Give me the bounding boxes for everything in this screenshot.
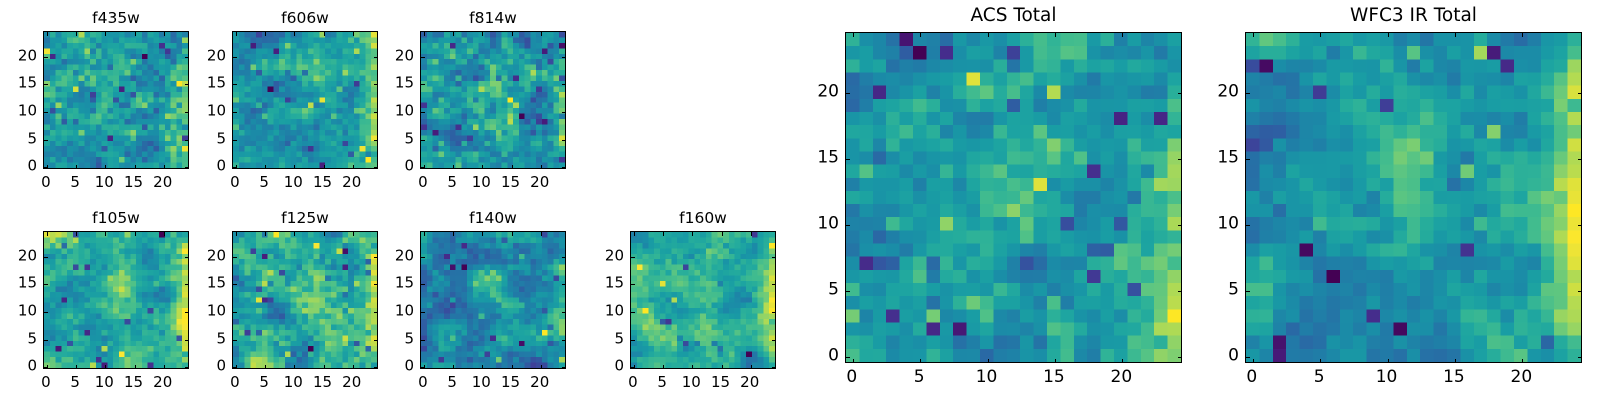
x-tick-mark — [265, 365, 266, 369]
x-tick-mark-top — [236, 32, 237, 36]
y-tick-mark — [846, 357, 850, 358]
heatmap-image — [1246, 33, 1581, 362]
y-tick-mark — [233, 340, 237, 341]
y-tick-mark — [44, 367, 48, 368]
y-tick-mark-right — [562, 257, 566, 258]
y-tick-mark — [421, 112, 425, 113]
x-tick-label: 0 — [41, 175, 51, 190]
x-tick-label: 0 — [418, 375, 428, 390]
y-tick-mark — [631, 340, 635, 341]
x-tick-mark-top — [1055, 33, 1056, 37]
x-tick-label: 15 — [124, 175, 143, 190]
panel-title: f606w — [232, 11, 378, 27]
y-tick-label: 20 — [799, 83, 839, 100]
y-tick-label: 5 — [584, 331, 624, 346]
x-tick-mark-top — [482, 32, 483, 36]
y-tick-mark — [631, 367, 635, 368]
y-tick-mark — [1246, 291, 1250, 292]
x-tick-mark-top — [453, 232, 454, 236]
y-tick-label: 5 — [0, 131, 37, 146]
y-tick-mark — [421, 284, 425, 285]
y-tick-mark — [44, 284, 48, 285]
plot-area — [420, 231, 566, 369]
x-tick-mark-top — [236, 232, 237, 236]
y-tick-label: 15 — [186, 276, 226, 291]
x-tick-label: 0 — [230, 175, 240, 190]
y-tick-label: 10 — [186, 104, 226, 119]
y-tick-label: 20 — [1199, 83, 1239, 100]
y-tick-label: 15 — [584, 276, 624, 291]
x-tick-mark — [482, 165, 483, 169]
x-tick-mark — [663, 365, 664, 369]
x-tick-mark-top — [135, 32, 136, 36]
y-tick-label: 20 — [0, 48, 37, 63]
x-tick-label: 10 — [1376, 369, 1398, 386]
y-tick-mark — [233, 112, 237, 113]
y-tick-mark-right — [772, 284, 776, 285]
panel-title: f160w — [630, 211, 776, 227]
y-tick-mark — [44, 312, 48, 313]
y-tick-mark — [1246, 225, 1250, 226]
x-tick-label: 5 — [914, 369, 925, 386]
x-tick-mark-top — [541, 32, 542, 36]
y-tick-mark-right — [562, 284, 566, 285]
y-tick-mark-right — [772, 367, 776, 368]
x-tick-label: 15 — [1043, 369, 1065, 386]
x-tick-mark — [512, 165, 513, 169]
x-tick-mark-top — [135, 232, 136, 236]
y-tick-mark — [1246, 357, 1250, 358]
y-tick-mark — [233, 284, 237, 285]
x-tick-mark — [164, 165, 165, 169]
x-tick-label: 10 — [284, 375, 303, 390]
x-tick-label: 20 — [530, 175, 549, 190]
x-tick-label: 10 — [976, 369, 998, 386]
panel-title: f125w — [232, 211, 378, 227]
y-tick-mark-right — [1178, 291, 1182, 292]
y-tick-mark — [846, 225, 850, 226]
x-tick-label: 15 — [711, 375, 730, 390]
x-tick-mark-top — [920, 33, 921, 37]
y-tick-mark-right — [562, 112, 566, 113]
x-tick-mark-top — [634, 232, 635, 236]
x-tick-label: 15 — [501, 375, 520, 390]
y-tick-mark-right — [562, 84, 566, 85]
y-tick-label: 5 — [799, 282, 839, 299]
x-tick-mark — [294, 165, 295, 169]
x-tick-label: 20 — [342, 375, 361, 390]
x-tick-mark-top — [482, 232, 483, 236]
x-tick-mark — [265, 165, 266, 169]
x-tick-mark-top — [76, 32, 77, 36]
x-tick-label: 0 — [41, 375, 51, 390]
y-tick-mark — [421, 367, 425, 368]
x-tick-mark — [541, 165, 542, 169]
plot-area — [1245, 32, 1582, 363]
plot-area — [630, 231, 776, 369]
y-tick-mark-right — [772, 340, 776, 341]
x-tick-label: 15 — [501, 175, 520, 190]
x-tick-mark — [324, 165, 325, 169]
y-tick-label: 10 — [374, 104, 414, 119]
x-tick-mark — [164, 365, 165, 369]
y-tick-mark — [421, 167, 425, 168]
y-tick-mark — [421, 340, 425, 341]
x-tick-mark — [1388, 359, 1389, 363]
y-tick-mark-right — [1578, 225, 1582, 226]
y-tick-mark — [1246, 93, 1250, 94]
x-tick-mark-top — [1253, 33, 1254, 37]
y-tick-label: 5 — [374, 131, 414, 146]
x-tick-label: 20 — [1511, 369, 1533, 386]
y-tick-label: 0 — [1199, 348, 1239, 365]
x-tick-mark — [76, 165, 77, 169]
heatmap-image — [421, 232, 565, 368]
heatmap-panel-f160w: f160w0510152005101520 — [630, 231, 776, 369]
y-tick-mark-right — [772, 257, 776, 258]
x-tick-mark-top — [164, 32, 165, 36]
heatmap-panel-f606w: f606w0510152005101520 — [232, 31, 378, 169]
y-tick-label: 0 — [374, 359, 414, 374]
x-tick-label: 15 — [313, 175, 332, 190]
x-tick-mark-top — [751, 232, 752, 236]
x-tick-mark-top — [353, 232, 354, 236]
heatmap-panel-f435w: f435w0510152005101520 — [43, 31, 189, 169]
x-tick-label: 20 — [740, 375, 759, 390]
x-tick-mark — [1253, 359, 1254, 363]
x-tick-mark — [541, 365, 542, 369]
y-tick-mark — [421, 84, 425, 85]
y-tick-mark-right — [562, 312, 566, 313]
x-tick-mark-top — [663, 232, 664, 236]
x-tick-mark-top — [512, 32, 513, 36]
y-tick-mark — [631, 284, 635, 285]
panel-title: f814w — [420, 11, 566, 27]
y-tick-label: 20 — [186, 48, 226, 63]
y-tick-label: 20 — [0, 248, 37, 263]
plot-area — [232, 31, 378, 169]
y-tick-label: 5 — [186, 131, 226, 146]
y-tick-label: 15 — [374, 276, 414, 291]
y-tick-mark — [44, 112, 48, 113]
y-tick-label: 5 — [186, 331, 226, 346]
y-tick-mark — [1246, 159, 1250, 160]
x-tick-label: 10 — [284, 175, 303, 190]
y-tick-mark-right — [1178, 225, 1182, 226]
y-tick-mark-right — [562, 57, 566, 58]
y-tick-mark — [421, 140, 425, 141]
x-tick-mark-top — [1320, 33, 1321, 37]
x-tick-label: 5 — [259, 175, 269, 190]
x-tick-mark-top — [424, 232, 425, 236]
x-tick-mark — [1055, 359, 1056, 363]
y-tick-label: 10 — [584, 304, 624, 319]
x-tick-mark — [1320, 359, 1321, 363]
x-tick-mark-top — [47, 232, 48, 236]
x-tick-mark-top — [76, 232, 77, 236]
y-tick-mark-right — [1178, 93, 1182, 94]
x-tick-mark-top — [164, 232, 165, 236]
x-tick-label: 20 — [1111, 369, 1133, 386]
x-tick-mark-top — [541, 232, 542, 236]
y-tick-label: 20 — [374, 48, 414, 63]
x-tick-mark — [1522, 359, 1523, 363]
x-tick-label: 5 — [447, 175, 457, 190]
y-tick-mark — [233, 84, 237, 85]
heatmap-panel-f125w: f125w0510152005101520 — [232, 231, 378, 369]
y-tick-mark-right — [562, 367, 566, 368]
x-tick-mark — [324, 365, 325, 369]
plot-area — [845, 32, 1182, 363]
x-tick-label: 5 — [447, 375, 457, 390]
y-tick-mark — [846, 93, 850, 94]
y-tick-label: 20 — [186, 248, 226, 263]
x-tick-label: 10 — [472, 175, 491, 190]
x-tick-mark — [453, 165, 454, 169]
x-tick-mark — [353, 165, 354, 169]
heatmap-panel-wfc3-ir-total: WFC3 IR Total0510152005101520 — [1245, 32, 1582, 363]
plot-area — [43, 31, 189, 169]
y-tick-mark — [233, 167, 237, 168]
y-tick-label: 0 — [584, 359, 624, 374]
heatmap-image — [233, 32, 377, 168]
y-tick-mark — [44, 84, 48, 85]
x-tick-mark-top — [294, 32, 295, 36]
x-tick-mark — [453, 365, 454, 369]
x-tick-label: 20 — [153, 375, 172, 390]
x-tick-mark-top — [424, 32, 425, 36]
y-tick-mark — [44, 57, 48, 58]
x-tick-mark-top — [453, 32, 454, 36]
y-tick-label: 10 — [186, 304, 226, 319]
y-tick-label: 10 — [374, 304, 414, 319]
x-tick-mark-top — [105, 232, 106, 236]
y-tick-mark-right — [562, 140, 566, 141]
x-tick-mark-top — [265, 232, 266, 236]
heatmap-image — [421, 32, 565, 168]
y-tick-mark — [631, 257, 635, 258]
heatmap-image — [44, 32, 188, 168]
figure-canvas: f435w0510152005101520f606w05101520051015… — [0, 0, 1600, 400]
x-tick-mark-top — [988, 33, 989, 37]
y-tick-mark — [631, 312, 635, 313]
x-tick-label: 0 — [230, 375, 240, 390]
x-tick-label: 20 — [342, 175, 361, 190]
x-tick-label: 10 — [95, 375, 114, 390]
x-tick-mark — [294, 365, 295, 369]
x-tick-label: 5 — [70, 175, 80, 190]
x-tick-mark — [512, 365, 513, 369]
y-tick-label: 10 — [1199, 215, 1239, 232]
y-tick-mark — [846, 159, 850, 160]
heatmap-panel-f105w: f105w0510152005101520 — [43, 231, 189, 369]
x-tick-mark — [105, 365, 106, 369]
x-tick-mark — [482, 365, 483, 369]
y-tick-mark — [44, 257, 48, 258]
y-tick-mark-right — [562, 167, 566, 168]
plot-area — [232, 231, 378, 369]
x-tick-mark — [105, 165, 106, 169]
y-tick-label: 10 — [0, 304, 37, 319]
x-tick-mark — [1455, 359, 1456, 363]
plot-area — [43, 231, 189, 369]
x-tick-mark-top — [353, 32, 354, 36]
x-tick-label: 5 — [657, 375, 667, 390]
x-tick-mark — [353, 365, 354, 369]
x-tick-mark-top — [722, 232, 723, 236]
x-tick-mark-top — [105, 32, 106, 36]
x-tick-mark-top — [692, 232, 693, 236]
x-tick-label: 5 — [70, 375, 80, 390]
y-tick-mark — [421, 57, 425, 58]
panel-title: f140w — [420, 211, 566, 227]
y-tick-mark-right — [1578, 93, 1582, 94]
y-tick-mark-right — [1578, 357, 1582, 358]
heatmap-image — [631, 232, 775, 368]
y-tick-mark-right — [1178, 159, 1182, 160]
y-tick-label: 5 — [374, 331, 414, 346]
y-tick-mark — [44, 167, 48, 168]
y-tick-mark-right — [1178, 357, 1182, 358]
heatmap-panel-acs-total: ACS Total0510152005101520 — [845, 32, 1182, 363]
y-tick-label: 15 — [186, 76, 226, 91]
x-tick-label: 10 — [682, 375, 701, 390]
panel-title: WFC3 IR Total — [1245, 7, 1582, 26]
y-tick-label: 5 — [1199, 282, 1239, 299]
x-tick-label: 0 — [846, 369, 857, 386]
y-tick-label: 0 — [186, 159, 226, 174]
heatmap-panel-f140w: f140w0510152005101520 — [420, 231, 566, 369]
x-tick-mark-top — [265, 32, 266, 36]
x-tick-mark-top — [324, 32, 325, 36]
y-tick-label: 15 — [0, 276, 37, 291]
x-tick-mark-top — [853, 33, 854, 37]
y-tick-label: 0 — [186, 359, 226, 374]
y-tick-label: 0 — [374, 159, 414, 174]
x-tick-mark — [722, 365, 723, 369]
x-tick-label: 20 — [530, 375, 549, 390]
y-tick-label: 20 — [374, 248, 414, 263]
x-tick-mark — [853, 359, 854, 363]
y-tick-label: 5 — [0, 331, 37, 346]
x-tick-label: 0 — [1246, 369, 1257, 386]
x-tick-label: 10 — [472, 375, 491, 390]
y-tick-label: 10 — [0, 104, 37, 119]
heatmap-image — [44, 232, 188, 368]
y-tick-label: 0 — [799, 348, 839, 365]
plot-area — [420, 31, 566, 169]
y-tick-mark — [846, 291, 850, 292]
y-tick-label: 10 — [799, 215, 839, 232]
y-tick-mark-right — [1578, 159, 1582, 160]
x-tick-mark — [988, 359, 989, 363]
x-tick-label: 5 — [1314, 369, 1325, 386]
y-tick-mark-right — [772, 312, 776, 313]
y-tick-mark — [233, 257, 237, 258]
y-tick-label: 0 — [0, 159, 37, 174]
y-tick-mark — [233, 140, 237, 141]
y-tick-label: 15 — [1199, 149, 1239, 166]
y-tick-mark — [44, 340, 48, 341]
y-tick-mark — [421, 257, 425, 258]
x-tick-label: 15 — [124, 375, 143, 390]
x-tick-label: 0 — [628, 375, 638, 390]
heatmap-image — [233, 232, 377, 368]
y-tick-label: 15 — [799, 149, 839, 166]
heatmap-image — [846, 33, 1181, 362]
x-tick-mark-top — [47, 32, 48, 36]
y-tick-mark — [44, 140, 48, 141]
x-tick-label: 20 — [153, 175, 172, 190]
y-tick-label: 15 — [0, 76, 37, 91]
x-tick-mark-top — [1122, 33, 1123, 37]
y-tick-label: 20 — [584, 248, 624, 263]
panel-title: f435w — [43, 11, 189, 27]
y-tick-mark — [233, 312, 237, 313]
x-tick-label: 15 — [1443, 369, 1465, 386]
x-tick-mark-top — [1455, 33, 1456, 37]
y-tick-mark — [233, 367, 237, 368]
x-tick-mark — [135, 165, 136, 169]
y-tick-mark — [421, 312, 425, 313]
y-tick-mark — [233, 57, 237, 58]
y-tick-mark-right — [1578, 291, 1582, 292]
x-tick-mark — [692, 365, 693, 369]
heatmap-panel-f814w: f814w0510152005101520 — [420, 31, 566, 169]
x-tick-label: 10 — [95, 175, 114, 190]
x-tick-label: 15 — [313, 375, 332, 390]
x-tick-mark — [76, 365, 77, 369]
x-tick-label: 0 — [418, 175, 428, 190]
panel-title: ACS Total — [845, 7, 1182, 26]
x-tick-label: 5 — [259, 375, 269, 390]
y-tick-label: 0 — [0, 359, 37, 374]
x-tick-mark — [920, 359, 921, 363]
x-tick-mark-top — [1388, 33, 1389, 37]
x-tick-mark — [135, 365, 136, 369]
x-tick-mark-top — [512, 232, 513, 236]
x-tick-mark-top — [294, 232, 295, 236]
x-tick-mark-top — [324, 232, 325, 236]
x-tick-mark-top — [1522, 33, 1523, 37]
y-tick-label: 15 — [374, 76, 414, 91]
x-tick-mark — [1122, 359, 1123, 363]
x-tick-mark — [751, 365, 752, 369]
y-tick-mark-right — [562, 340, 566, 341]
panel-title: f105w — [43, 211, 189, 227]
